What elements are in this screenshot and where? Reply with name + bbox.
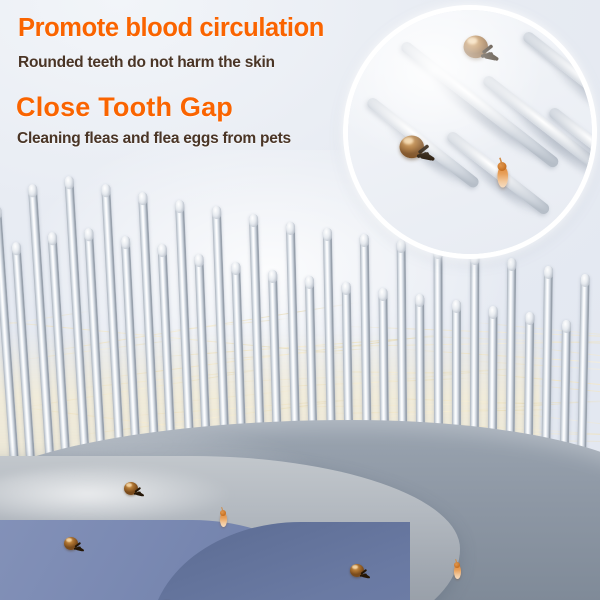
comb-tooth-rounded-tip <box>175 200 185 213</box>
comb-tooth-rounded-tip <box>231 262 240 275</box>
comb-tooth-rounded-tip <box>489 306 498 319</box>
flea <box>496 162 510 188</box>
comb-tooth-rounded-tip <box>323 228 332 241</box>
comb-tooth-rounded-tip <box>360 234 369 247</box>
comb-tooth-rounded-tip <box>378 288 387 301</box>
comb-tooth-rounded-tip <box>397 240 406 253</box>
magnified-detail-circle <box>348 10 592 254</box>
tick <box>62 535 80 551</box>
comb-tooth-rounded-tip <box>305 276 314 289</box>
comb-tooth-rounded-tip <box>581 274 590 287</box>
comb-tooth-rounded-tip <box>138 192 148 205</box>
tick-highlight <box>126 483 132 487</box>
comb-tooth-rounded-tip <box>342 282 351 295</box>
subheading-cleaning-fleas: Cleaning fleas and flea eggs from pets <box>17 130 291 148</box>
heading-promote-blood-circulation: Promote blood circulation <box>18 14 324 43</box>
comb-tooth-rounded-tip <box>101 184 111 197</box>
comb-tooth-rounded-tip <box>84 228 94 241</box>
comb-tooth-rounded-tip <box>0 206 2 220</box>
comb-tooth-rounded-tip <box>158 244 168 257</box>
comb-tooth-rounded-tip <box>544 266 553 279</box>
comb-tooth-rounded-tip <box>286 222 295 235</box>
comb-tooth-rounded-tip <box>121 236 131 249</box>
comb-tooth-rounded-tip <box>194 254 204 267</box>
subheading-rounded-teeth: Rounded teeth do not harm the skin <box>18 54 275 72</box>
tick <box>396 132 449 179</box>
comb-tooth-rounded-tip <box>212 206 221 219</box>
comb-tooth-rounded-tip <box>28 184 38 198</box>
comb-tooth-rounded-tip <box>12 242 22 256</box>
tick-highlight <box>467 37 478 44</box>
flea <box>219 510 228 527</box>
flea <box>453 562 462 579</box>
tick <box>460 32 513 79</box>
product-image: Promote blood circulation Rounded teeth … <box>0 0 600 600</box>
comb-tooth-rounded-tip <box>249 214 258 227</box>
comb-tooth-rounded-tip <box>562 320 571 333</box>
marketing-copy: Promote blood circulation Rounded teeth … <box>0 0 360 160</box>
heading-close-tooth-gap: Close Tooth Gap <box>16 92 233 123</box>
tick-highlight <box>403 137 414 144</box>
comb-tooth-rounded-tip <box>525 312 534 325</box>
comb-tooth-rounded-tip <box>452 300 461 313</box>
tick-highlight <box>352 565 358 569</box>
comb-tooth-rounded-tip <box>268 270 277 283</box>
comb-tooth-rounded-tip <box>415 294 424 307</box>
tick-highlight <box>66 538 72 542</box>
comb-tooth-rounded-tip <box>48 232 58 246</box>
comb-tooth-rounded-tip <box>507 258 516 271</box>
tick <box>122 480 140 496</box>
comb-tooth-rounded-tip <box>64 176 74 190</box>
tick <box>348 562 366 578</box>
